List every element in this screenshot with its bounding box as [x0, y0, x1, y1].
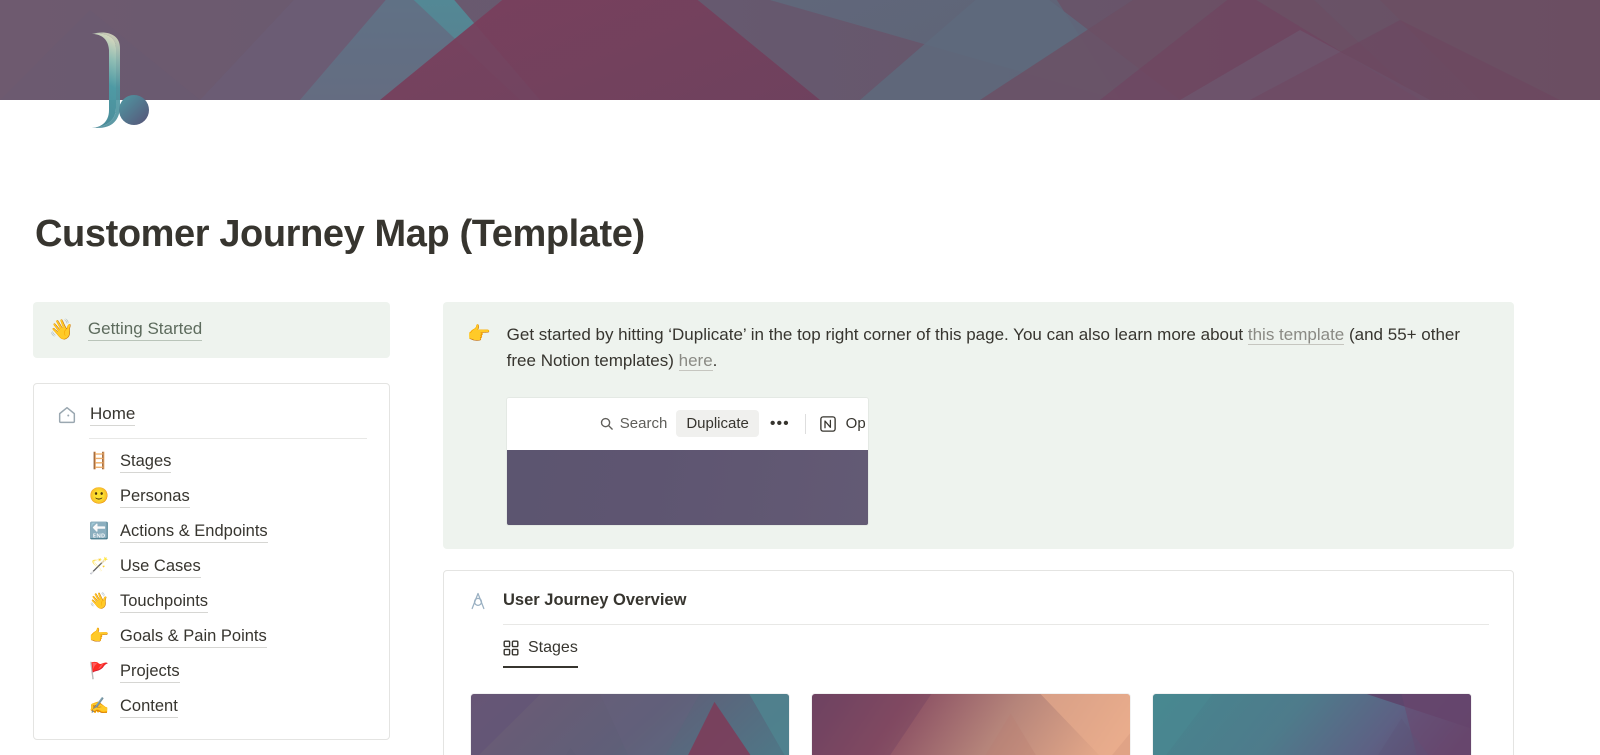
- gallery-card-1[interactable]: [470, 693, 790, 755]
- page-content: Customer Journey Map (Template) 👋 Gettin…: [0, 100, 1600, 755]
- magic-wand-icon: 🪄: [89, 559, 109, 575]
- here-link[interactable]: here: [679, 351, 713, 371]
- gallery-card-3[interactable]: [1152, 693, 1472, 755]
- sidebar-item-touchpoints[interactable]: 👋 Touchpoints: [89, 585, 367, 620]
- gallery-view-icon: [503, 640, 519, 656]
- notion-logo-icon: [819, 415, 837, 433]
- sidebar-item-home[interactable]: Home: [56, 404, 367, 438]
- callout-body: Get started by hitting ‘Duplicate’ in th…: [507, 322, 1490, 525]
- sidebar-divider: [89, 438, 367, 439]
- header-banner: [0, 0, 1600, 100]
- banner-pattern: [0, 0, 1600, 100]
- sidebar-item-label: Projects: [120, 662, 180, 683]
- callout-text-part-1: Get started by hitting ‘Duplicate’ in th…: [507, 325, 1248, 344]
- card-cover-3: [1153, 694, 1471, 755]
- sidebar-item-label: Personas: [120, 487, 190, 508]
- embedded-search-label: Search: [620, 415, 668, 432]
- embedded-search-button: Search: [599, 415, 668, 432]
- brand-logo: [86, 28, 166, 134]
- sidebar-item-content[interactable]: ✍️ Content: [89, 690, 367, 725]
- sidebar-item-personas[interactable]: 🙂 Personas: [89, 480, 367, 515]
- tab-stages[interactable]: Stages: [503, 639, 578, 668]
- user-journey-title: User Journey Overview: [503, 591, 686, 610]
- triangular-flag-icon: 🚩: [89, 664, 109, 680]
- duplicate-instruction-screenshot: Search Duplicate ••• Op: [507, 398, 868, 525]
- waving-hand-icon: 👋: [89, 594, 109, 610]
- pointing-finger-icon: 👉: [467, 322, 491, 348]
- home-icon: [56, 404, 78, 426]
- sidebar-item-actions-endpoints[interactable]: 🔚 Actions & Endpoints: [89, 515, 367, 550]
- sidebar-item-stages[interactable]: 🪜 Stages: [89, 445, 367, 480]
- card-cover-2: [812, 694, 1130, 755]
- getting-started-link[interactable]: Getting Started: [88, 319, 202, 341]
- ladder-icon: 🪜: [89, 454, 109, 470]
- stages-gallery: [468, 693, 1489, 755]
- sidebar-item-label: Content: [120, 697, 178, 718]
- callout-text-part-3: .: [713, 351, 718, 370]
- tab-label: Stages: [528, 639, 578, 657]
- navigation-card: Home 🪜 Stages 🙂 Personas 🔚 Actions & E: [33, 383, 390, 740]
- callout-text: Get started by hitting ‘Duplicate’ in th…: [507, 322, 1490, 374]
- getting-started-callout[interactable]: 👋 Getting Started: [33, 302, 390, 358]
- database-view-tabs: Stages: [468, 639, 1489, 668]
- waving-hand-icon: 👋: [49, 320, 74, 340]
- person-icon: [468, 591, 488, 611]
- sidebar-item-projects[interactable]: 🚩 Projects: [89, 655, 367, 690]
- pointing-finger-icon: 👉: [89, 629, 109, 645]
- sidebar-item-use-cases[interactable]: 🪄 Use Cases: [89, 550, 367, 585]
- sidebar-column: 👋 Getting Started Home 🪜: [0, 302, 390, 740]
- this-template-link[interactable]: this template: [1248, 325, 1344, 345]
- sidebar-item-label: Touchpoints: [120, 592, 208, 613]
- search-icon: [599, 416, 614, 431]
- end-arrow-icon: 🔚: [89, 524, 109, 540]
- user-journey-divider: [503, 624, 1489, 625]
- sidebar-item-label: Actions & Endpoints: [120, 522, 268, 543]
- card-cover-1: [471, 694, 789, 755]
- sidebar-nav-list: 🪜 Stages 🙂 Personas 🔚 Actions & Endpoint…: [56, 445, 367, 725]
- user-journey-overview-card: User Journey Overview St: [443, 570, 1514, 755]
- content-columns: 👋 Getting Started Home 🪜: [0, 258, 1600, 755]
- sidebar-home-label: Home: [90, 404, 135, 426]
- writing-hand-icon: ✍️: [89, 699, 109, 715]
- sidebar-item-label: Stages: [120, 452, 171, 473]
- embedded-options-label: Op: [846, 415, 866, 432]
- smiley-face-icon: 🙂: [89, 489, 109, 505]
- embedded-notion-toolbar: Search Duplicate ••• Op: [507, 398, 868, 450]
- page-title: Customer Journey Map (Template): [0, 100, 1600, 258]
- embedded-more-options-icon: •••: [768, 415, 792, 433]
- user-journey-header: User Journey Overview: [468, 591, 1489, 624]
- embedded-toolbar-divider: [805, 414, 806, 434]
- gallery-card-2[interactable]: [811, 693, 1131, 755]
- main-column: 👉 Get started by hitting ‘Duplicate’ in …: [390, 302, 1600, 755]
- embedded-page-cover: [507, 450, 868, 525]
- sidebar-item-label: Use Cases: [120, 557, 201, 578]
- sidebar-item-label: Goals & Pain Points: [120, 627, 267, 648]
- sidebar-item-goals-pain-points[interactable]: 👉 Goals & Pain Points: [89, 620, 367, 655]
- get-started-callout: 👉 Get started by hitting ‘Duplicate’ in …: [443, 302, 1514, 549]
- embedded-duplicate-button: Duplicate: [676, 410, 759, 437]
